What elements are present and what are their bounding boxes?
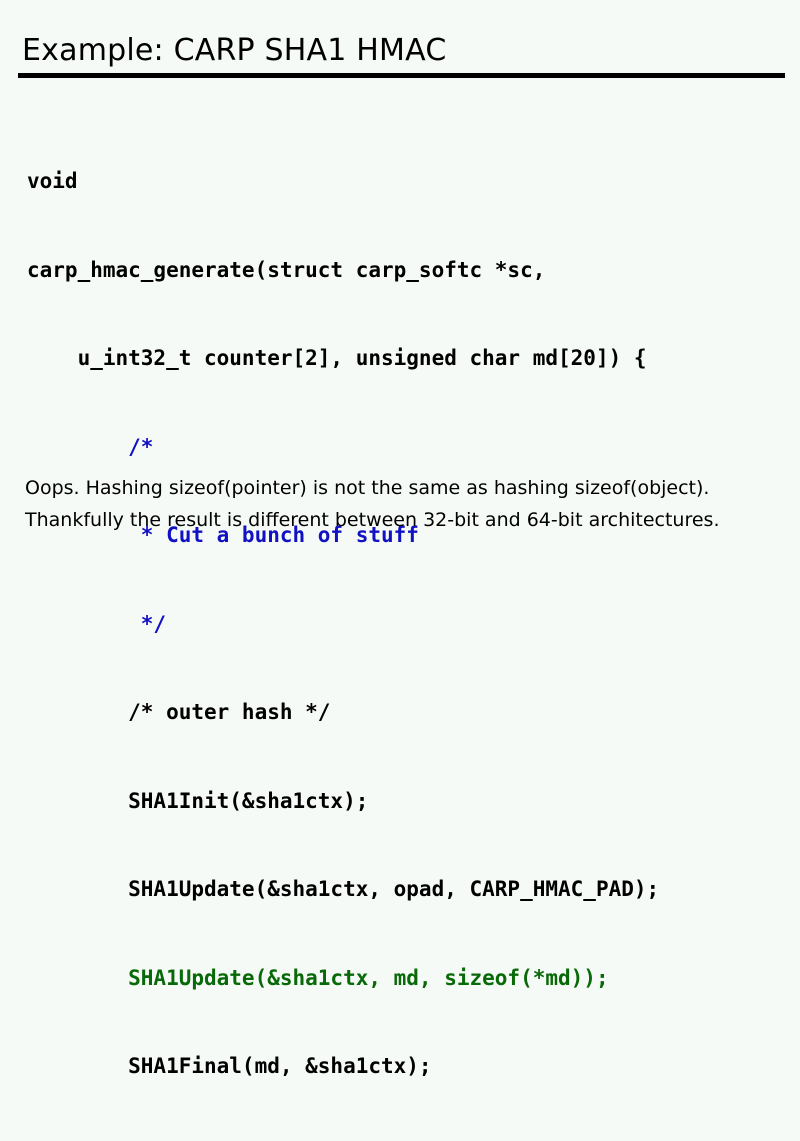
code-line: carp_hmac_generate(struct carp_softc *sc… xyxy=(27,256,659,286)
body-text: Oops. Hashing sizeof(pointer) is not the… xyxy=(25,472,785,536)
code-line: /* xyxy=(27,433,659,463)
code-line: SHA1Update(&sha1ctx, opad, CARP_HMAC_PAD… xyxy=(27,875,659,905)
code-block: void carp_hmac_generate(struct carp_soft… xyxy=(27,108,659,1141)
title-divider xyxy=(18,73,785,78)
code-line: */ xyxy=(27,610,659,640)
code-line: void xyxy=(27,167,659,197)
code-line: SHA1Final(md, &sha1ctx); xyxy=(27,1052,659,1082)
code-line: SHA1Init(&sha1ctx); xyxy=(27,787,659,817)
body-paragraph: Oops. Hashing sizeof(pointer) is not the… xyxy=(25,472,785,504)
code-line: u_int32_t counter[2], unsigned char md[2… xyxy=(27,344,659,374)
code-line-highlighted: SHA1Update(&sha1ctx, md, sizeof(*md)); xyxy=(27,964,659,994)
body-paragraph: Thankfully the result is different betwe… xyxy=(25,504,785,536)
code-line: /* outer hash */ xyxy=(27,698,659,728)
slide: Example: CARP SHA1 HMAC void carp_hmac_g… xyxy=(0,0,800,600)
page-title: Example: CARP SHA1 HMAC xyxy=(22,33,446,69)
